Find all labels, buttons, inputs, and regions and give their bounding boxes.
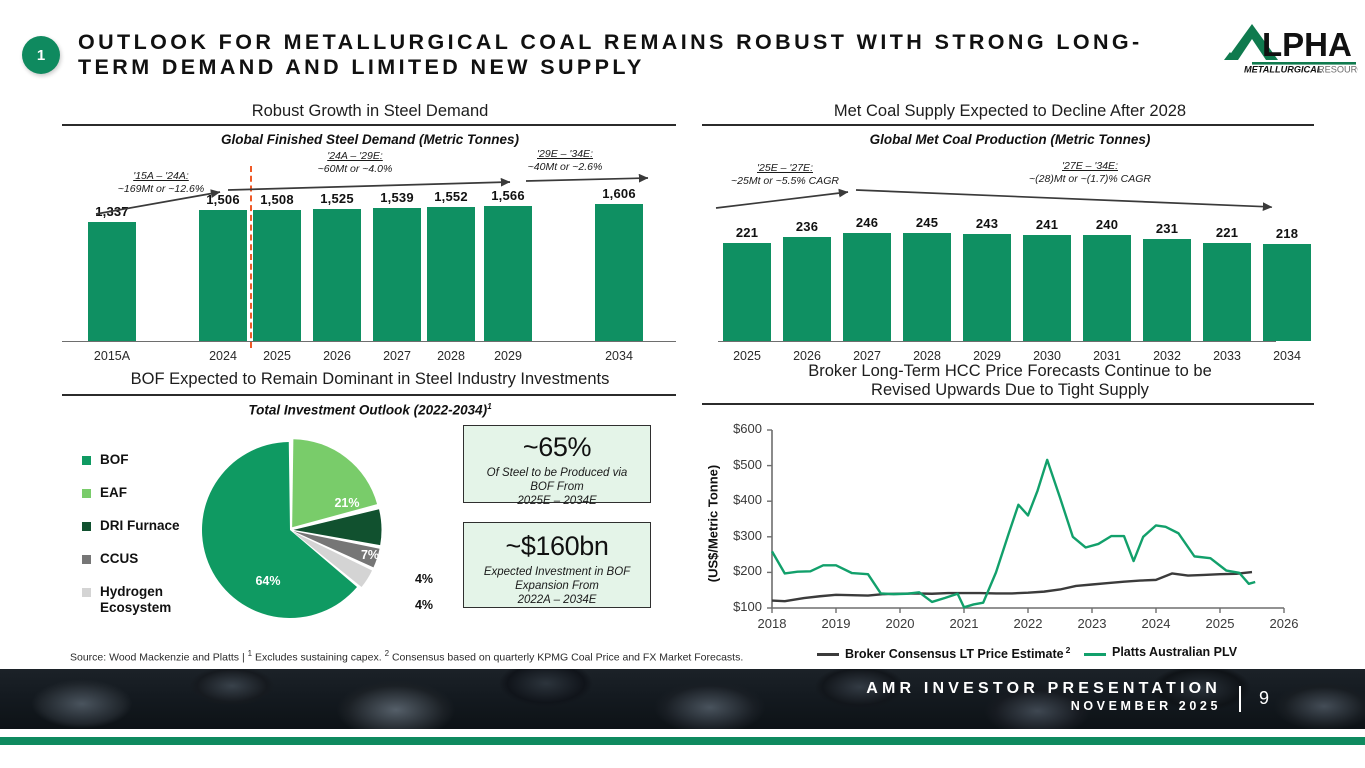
- line-legend-label: Broker Consensus LT Price Estimate: [845, 647, 1064, 661]
- source-fn2: Consensus based on quarterly KPMG Coal P…: [389, 652, 743, 664]
- source-fn1: Excludes sustaining capex.: [252, 652, 385, 664]
- footer-line1: AMR INVESTOR PRESENTATION: [866, 680, 1221, 698]
- line-legend-label: Platts Australian PLV: [1112, 645, 1237, 659]
- footer-separator: [1239, 686, 1241, 712]
- line-legend-item-broker-consensus: Broker Consensus LT Price Estimate2: [845, 645, 1070, 661]
- source-prefix: Source: Wood Mackenzie and Platts |: [70, 652, 248, 664]
- source-note: Source: Wood Mackenzie and Platts | 1 Ex…: [70, 649, 743, 664]
- footer-text: AMR INVESTOR PRESENTATION NOVEMBER 2025: [866, 680, 1221, 713]
- footer-accent-bar: [0, 737, 1365, 745]
- line-legend-swatch: [1084, 653, 1106, 656]
- line-legend-item-platts-plv: Platts Australian PLV: [1112, 645, 1237, 659]
- line-legend-swatch: [817, 653, 839, 656]
- page-number: 9: [1259, 688, 1269, 709]
- line-legend-footnote: 2: [1066, 645, 1071, 655]
- footer-line2: NOVEMBER 2025: [866, 699, 1221, 713]
